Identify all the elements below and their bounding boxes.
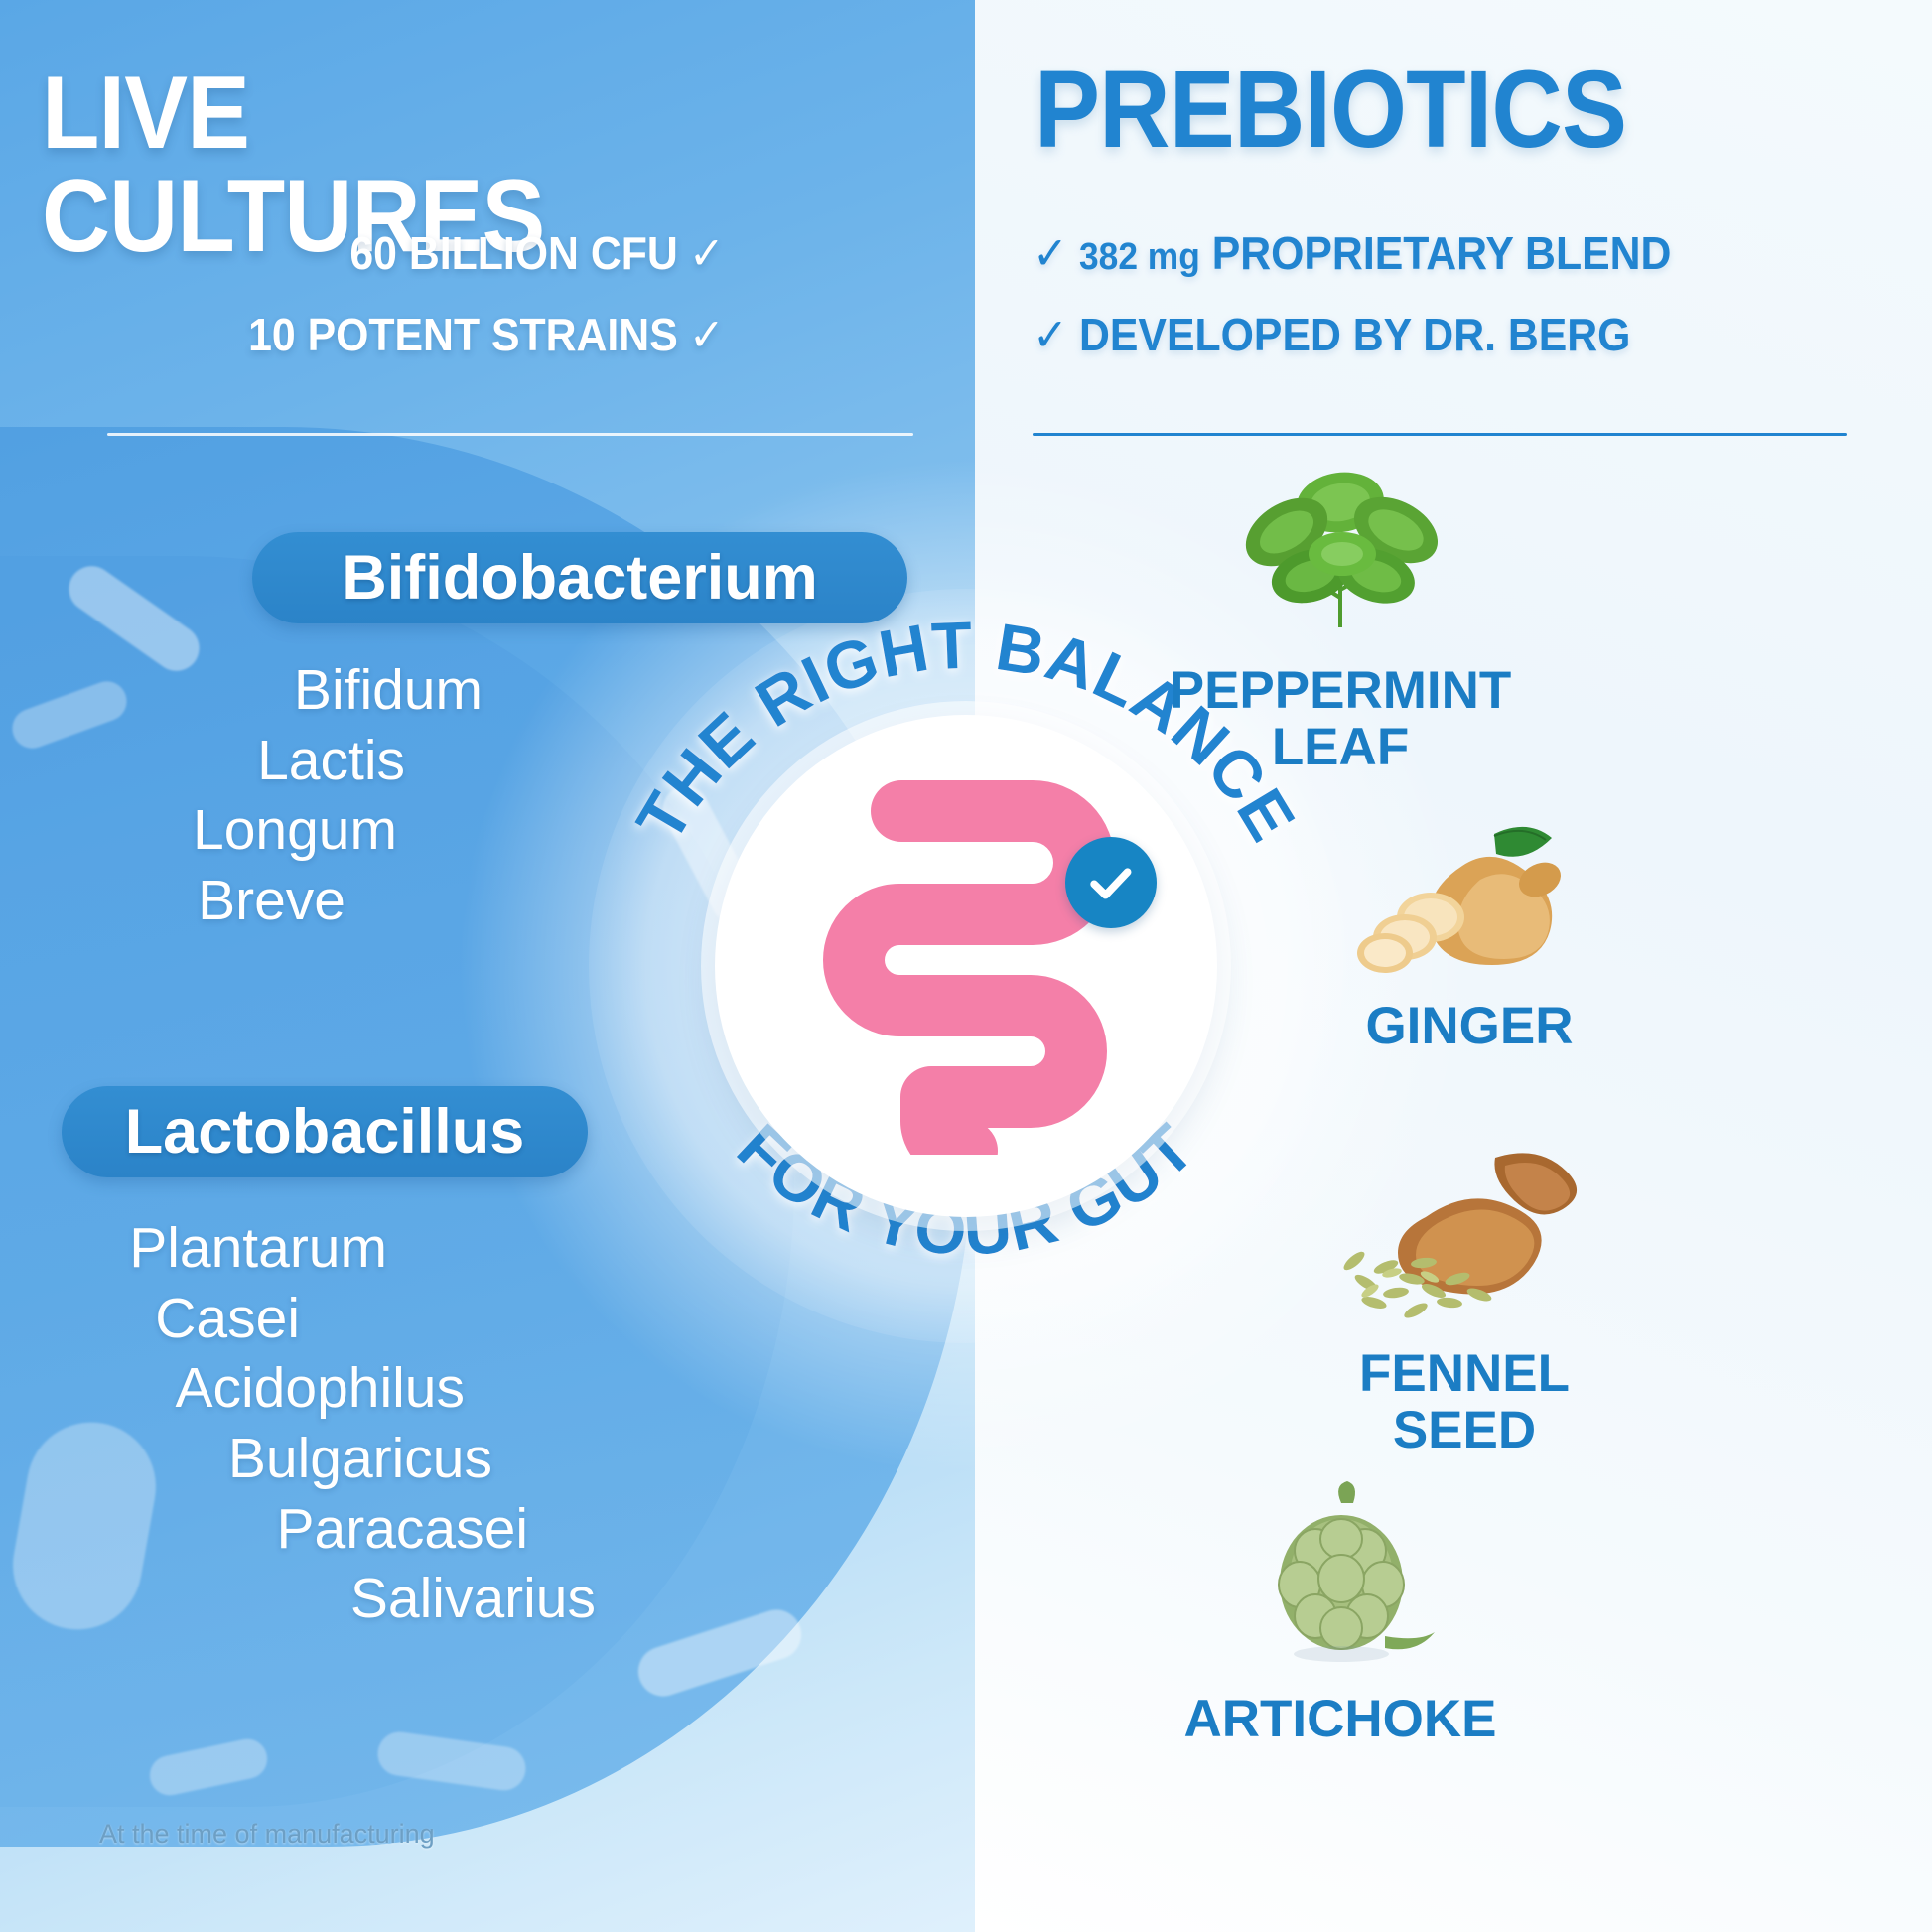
bullet-blend-label: PROPRIETARY BLEND — [1212, 227, 1672, 279]
ingredient-fennel: FENNEL SEED — [1246, 1132, 1683, 1458]
check-icon: ✓ — [1033, 227, 1068, 279]
genus-pill-lactobacillus: Lactobacillus — [62, 1086, 588, 1177]
ingredient-label-fennel: FENNEL SEED — [1246, 1345, 1683, 1458]
footnote-manufacturing: At the time of manufacturing — [99, 1819, 435, 1850]
ingredient-label-ginger: GINGER — [1261, 998, 1678, 1054]
strain-item: Paracasei — [0, 1494, 755, 1565]
fennel-seed-scoop-image — [1246, 1132, 1683, 1335]
bullet-proprietary-blend: ✓382 mg PROPRIETARY BLEND — [1033, 230, 1671, 276]
ingredient-artichoke: ARTICHOKE — [1102, 1477, 1579, 1747]
check-glyph — [1084, 856, 1138, 909]
strain-item: Salivarius — [0, 1564, 755, 1634]
bullet-blend-amount: 382 mg — [1079, 236, 1200, 278]
check-icon: ✓ — [1033, 309, 1068, 360]
bullet-strains-label: 10 POTENT STRAINS — [248, 309, 678, 360]
check-circle-icon — [1065, 837, 1157, 928]
bullet-cfu: 60 BILLION CFU✓ — [248, 230, 725, 276]
strain-item: Acidophilus — [0, 1353, 755, 1424]
prebiotics-bullets: ✓382 mg PROPRIETARY BLEND ✓DEVELOPED BY … — [1033, 230, 1671, 393]
ingredient-ginger: GINGER — [1261, 814, 1678, 1054]
ingredient-label-peppermint: PEPPERMINT LEAF — [1102, 662, 1579, 775]
ginger-root-image — [1261, 814, 1678, 988]
artichoke-image — [1102, 1477, 1579, 1681]
left-divider — [107, 433, 913, 436]
intestine-icon — [782, 777, 1150, 1155]
live-cultures-bullets: 60 BILLION CFU✓ 10 POTENT STRAINS✓ — [248, 230, 725, 393]
bullet-cfu-label: 60 BILLION CFU — [350, 227, 678, 279]
strain-item: Bulgaricus — [0, 1424, 755, 1494]
bullet-strains: 10 POTENT STRAINS✓ — [248, 312, 725, 357]
prebiotics-title: PREBIOTICS — [1035, 56, 1839, 165]
peppermint-leaf-image — [1102, 459, 1579, 652]
ingredient-peppermint: PEPPERMINT LEAF — [1102, 459, 1579, 775]
ingredient-label-artichoke: ARTICHOKE — [1102, 1691, 1579, 1747]
infographic-canvas: LIVE CULTURES 60 BILLION CFU✓ 10 POTENT … — [0, 0, 1932, 1932]
check-icon: ✓ — [689, 227, 725, 279]
check-icon: ✓ — [689, 309, 725, 360]
right-divider — [1033, 433, 1847, 436]
bullet-developed-label: DEVELOPED BY DR. BERG — [1079, 309, 1630, 360]
bullet-developed-by: ✓DEVELOPED BY DR. BERG — [1033, 312, 1671, 357]
